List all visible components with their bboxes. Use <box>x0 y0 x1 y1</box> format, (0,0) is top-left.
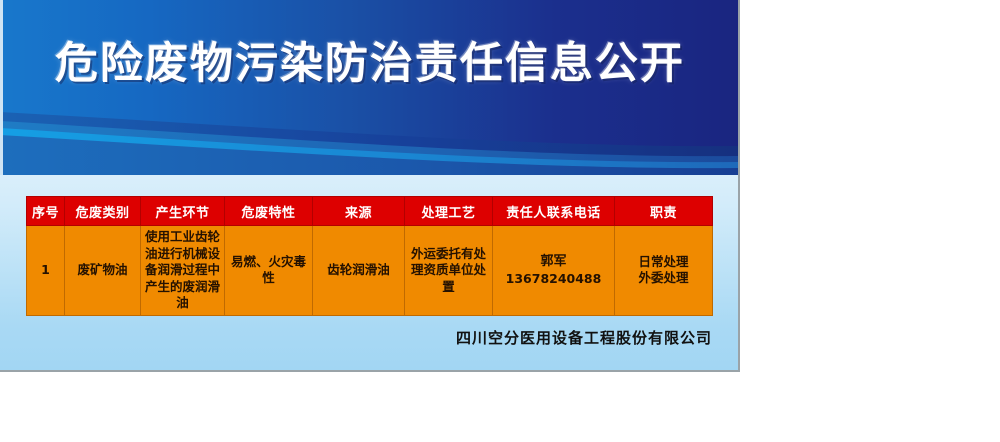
information-board: 危险废物污染防治责任信息公开 序号 危废类别 产生环节 危废特性 来源 处理工艺… <box>0 0 740 372</box>
table-header-row: 序号 危废类别 产生环节 危废特性 来源 处理工艺 责任人联系电话 职责 <box>27 197 713 226</box>
cell-treatment: 外运委托有处理资质单位处置 <box>405 226 493 316</box>
cell-index: 1 <box>27 226 65 316</box>
company-name: 四川空分医用设备工程股份有限公司 <box>0 327 712 348</box>
hazardous-waste-table: 序号 危废类别 产生环节 危废特性 来源 处理工艺 责任人联系电话 职责 1 废… <box>26 196 713 316</box>
cell-contact: 郭军 13678240488 <box>493 226 615 316</box>
banner-graphic <box>0 0 740 175</box>
cell-stage: 使用工业齿轮油进行机械设备润滑过程中产生的废润滑油 <box>141 226 225 316</box>
banner-left-edge <box>0 0 3 175</box>
col-header-duty: 职责 <box>615 197 713 226</box>
col-header-source: 来源 <box>313 197 405 226</box>
cell-duty: 日常处理外委处理 <box>615 226 713 316</box>
cell-property: 易燃、火灾毒性 <box>225 226 313 316</box>
col-header-category: 危废类别 <box>65 197 141 226</box>
col-header-property: 危废特性 <box>225 197 313 226</box>
contact-name: 郭军 <box>496 253 611 270</box>
contact-phone: 13678240488 <box>506 271 602 286</box>
cell-category: 废矿物油 <box>65 226 141 316</box>
banner-header <box>0 0 740 175</box>
hazardous-waste-table-wrapper: 序号 危废类别 产生环节 危废特性 来源 处理工艺 责任人联系电话 职责 1 废… <box>26 196 712 316</box>
col-header-stage: 产生环节 <box>141 197 225 226</box>
table-row: 1 废矿物油 使用工业齿轮油进行机械设备润滑过程中产生的废润滑油 易燃、火灾毒性… <box>27 226 713 316</box>
col-header-contact: 责任人联系电话 <box>493 197 615 226</box>
cell-source: 齿轮润滑油 <box>313 226 405 316</box>
col-header-index: 序号 <box>27 197 65 226</box>
col-header-treatment: 处理工艺 <box>405 197 493 226</box>
